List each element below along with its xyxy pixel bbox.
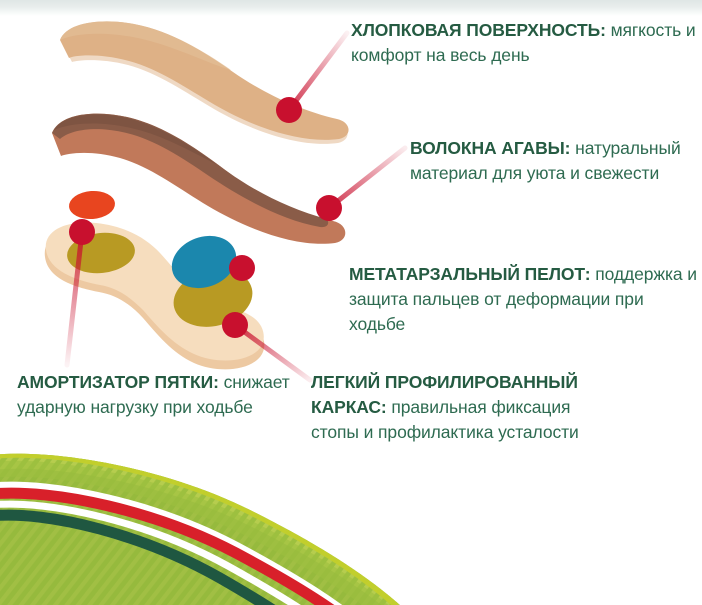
callout-heel-shock-absorber: АМОРТИЗАТОР ПЯТКИ: снижает ударную нагру… — [17, 370, 307, 420]
infographic-root: ХЛОПКОВАЯ ПОВЕРХНОСТЬ: мягкость и комфор… — [0, 0, 702, 605]
dot-cotton — [276, 97, 302, 123]
callout-agave-fibers: ВОЛОКНА АГАВЫ: натуральный материал для … — [410, 136, 700, 186]
dot-metatarsal-pad — [229, 255, 255, 281]
callout-cotton-lead: ХЛОПКОВАЯ ПОВЕРХНОСТЬ: — [351, 20, 606, 40]
heel-cushion-ellipse — [68, 189, 116, 220]
callout-metatarsal-pad: МЕТАТАРЗАЛЬНЫЙ ПЕЛОТ: поддержка и защита… — [349, 262, 702, 337]
dot-frame — [222, 312, 248, 338]
callout-agave-lead: ВОЛОКНА АГАВЫ: — [410, 138, 570, 158]
leader-line-agave — [329, 148, 405, 208]
callout-cotton-surface: ХЛОПКОВАЯ ПОВЕРХНОСТЬ: мягкость и комфор… — [351, 18, 696, 68]
callout-pad-lead: МЕТАТАРЗАЛЬНЫЙ ПЕЛОТ: — [349, 264, 590, 284]
callout-profiled-frame: ЛЕГКИЙ ПРОФИЛИРОВАННЫЙ КАРКАС: правильна… — [311, 370, 611, 445]
callout-heel-lead: АМОРТИЗАТОР ПЯТКИ: — [17, 372, 219, 392]
green-wave-bands — [0, 440, 420, 605]
dot-agave — [316, 195, 342, 221]
dot-heel — [69, 219, 95, 245]
leader-line-cotton — [289, 33, 347, 110]
